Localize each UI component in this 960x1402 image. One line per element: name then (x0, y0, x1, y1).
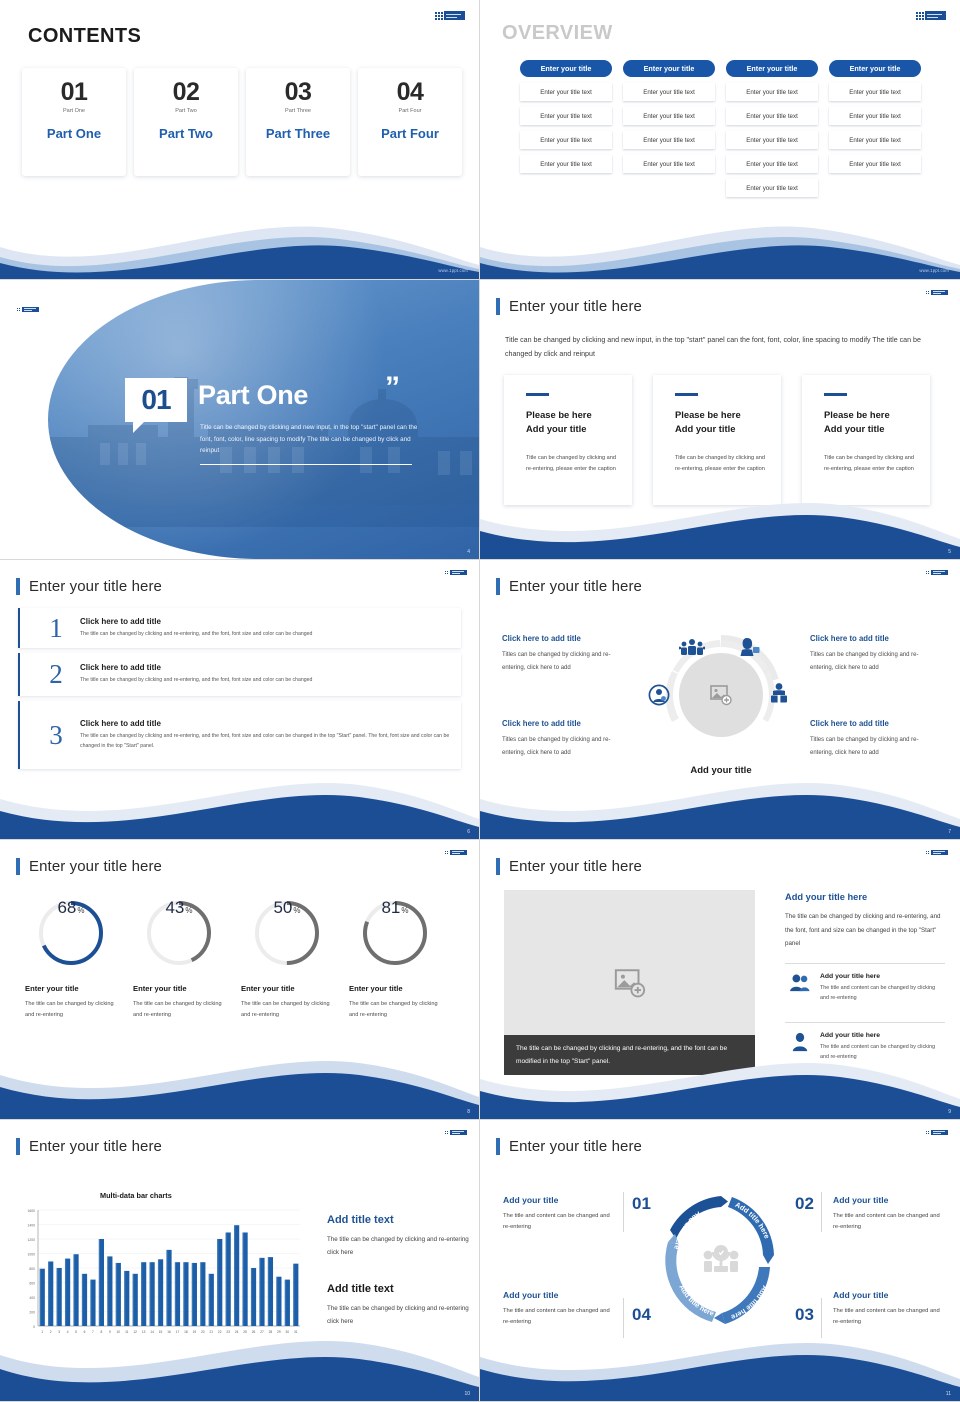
page-title: Enter your title here (509, 578, 642, 595)
card-subtitle: Part One (63, 108, 85, 114)
donut-diagram (646, 626, 796, 758)
cycle-number-03: 03 (795, 1305, 814, 1325)
svg-text:19: 19 (193, 1330, 197, 1334)
block-body: The title can be changed by clicking and… (327, 1233, 472, 1259)
svg-text:1000: 1000 (27, 1252, 35, 1256)
overview-cell[interactable]: Enter your title text (623, 107, 715, 125)
card-accent-bar (526, 393, 549, 396)
card-accent-bar (675, 393, 698, 396)
slide-header: Enter your title here (496, 1138, 642, 1155)
ring-number: 43 (165, 898, 184, 918)
section-description: Title can be changed by clicking and new… (200, 422, 428, 457)
svg-text:2: 2 (50, 1330, 52, 1334)
row-number: 3 (32, 722, 80, 749)
svg-text:1400: 1400 (27, 1223, 35, 1227)
item-body: The title and content can be changed by … (820, 1042, 945, 1062)
panel-heading: Add your title here (785, 892, 945, 902)
title-tick-icon (496, 858, 500, 875)
ring-number: 81 (381, 898, 400, 918)
ring-caption: Enter your title (25, 984, 117, 993)
card-number: 01 (61, 80, 88, 105)
slide-header: Enter your title here (16, 1138, 162, 1155)
wave-decoration (480, 497, 960, 559)
wave-decoration (0, 777, 479, 839)
row-heading: Click here to add title (80, 719, 450, 728)
ring-number: 68 (57, 898, 76, 918)
page-number: 8 (467, 1109, 470, 1115)
card-part-label: Part Two (159, 126, 213, 141)
card-title-line2: Add your title (675, 423, 735, 434)
ring-body: The title can be changed by clicking and… (349, 999, 441, 1020)
single-user-icon (789, 1032, 811, 1062)
ring-body: The title can be changed by clicking and… (241, 999, 333, 1020)
overview-cell[interactable]: Enter your title text (726, 131, 818, 149)
column-title-pill[interactable]: Enter your title (829, 60, 921, 77)
cycle-heading: Add your title (503, 1195, 615, 1205)
svg-text:6: 6 (84, 1330, 86, 1334)
page-number: 10 (464, 1391, 470, 1397)
page-title: Enter your title here (509, 858, 642, 875)
svg-text:1: 1 (41, 1330, 43, 1334)
logo-grid-icon (925, 1130, 930, 1135)
overview-column: Enter your title Enter your title text E… (520, 60, 612, 197)
slide-cycle-four: Enter your title here Add your title The… (480, 1120, 960, 1402)
svg-text:0: 0 (33, 1325, 35, 1329)
ring-item: 50% Enter your title The title can be ch… (241, 898, 333, 1020)
slide-header: Enter your title here (496, 298, 642, 315)
card-part-label: Part Three (266, 126, 330, 141)
logo-bar-icon (444, 11, 465, 20)
card-subtitle: Part Two (175, 108, 197, 114)
card-number: 03 (285, 80, 312, 105)
cycle-number-04: 04 (632, 1305, 651, 1325)
svg-text:800: 800 (29, 1267, 35, 1271)
row-heading: Click here to add title (80, 617, 450, 626)
svg-text:9: 9 (109, 1330, 111, 1334)
ring-item: 68% Enter your title The title can be ch… (25, 898, 117, 1020)
text-block: Add title text The title can be changed … (327, 1214, 472, 1259)
overview-cell[interactable]: Enter your title text (623, 155, 715, 173)
svg-text:11: 11 (125, 1330, 129, 1334)
overview-cell[interactable]: Enter your title text (623, 131, 715, 149)
page-number: 11 (946, 1391, 951, 1397)
overview-cell[interactable]: Enter your title text (726, 83, 818, 101)
logo-grid-icon (444, 850, 449, 855)
svg-text:16: 16 (167, 1330, 171, 1334)
slide-bar-chart: Enter your title here Multi-data bar cha… (0, 1120, 480, 1402)
overview-column: Enter your title Enter your title text E… (726, 60, 818, 197)
overview-cell[interactable]: Enter your title text (520, 131, 612, 149)
overview-cell[interactable]: Enter your title text (726, 179, 818, 197)
contents-card[interactable]: 02 Part Two Part Two (134, 68, 238, 176)
card-title: Please be hereAdd your title (824, 408, 930, 437)
svg-text:8: 8 (100, 1330, 102, 1334)
title-tick-icon (16, 858, 20, 875)
svg-text:12: 12 (133, 1330, 137, 1334)
quadrant-heading: Click here to add title (502, 634, 629, 643)
brand-logo (444, 850, 467, 855)
page-title: CONTENTS (28, 25, 141, 48)
group-people-icon (679, 638, 705, 661)
title-tick-icon (496, 578, 500, 595)
title-tick-icon (496, 1138, 500, 1155)
title-tick-icon (16, 578, 20, 595)
card-accent-bar (824, 393, 847, 396)
svg-text:600: 600 (29, 1281, 35, 1285)
row-body: The title can be changed by clicking and… (80, 732, 450, 750)
card-part-label: Part One (47, 126, 101, 141)
progress-ring: 50% (252, 898, 322, 968)
svg-text:28: 28 (269, 1330, 273, 1334)
quote-mark-icon: ” (385, 376, 400, 400)
quadrant-text-bottom-right: Click here to add title Titles can be ch… (810, 719, 937, 759)
center-caption: Add your title (646, 765, 796, 776)
logo-grid-icon (444, 570, 449, 575)
overview-column: Enter your title Enter your title text E… (623, 60, 715, 197)
image-placeholder-icon (709, 683, 733, 707)
right-text-panel: Add title text The title can be changed … (327, 1214, 472, 1328)
right-panel: Add your title here The title can be cha… (785, 892, 945, 1069)
row-text: Click here to add title The title can be… (80, 663, 450, 685)
quadrant-text-bottom-left: Click here to add title Titles can be ch… (502, 719, 629, 759)
card-title-line1: Please be here (675, 409, 741, 420)
card-number: 02 (173, 80, 200, 105)
block-heading: Add title text (327, 1283, 472, 1295)
overview-cell[interactable]: Enter your title text (520, 155, 612, 173)
ring-list: 68% Enter your title The title can be ch… (25, 898, 441, 1020)
slide-deck: CONTENTS 01 Part One Part One 02 Part Tw… (0, 0, 960, 1400)
ring-suffix: % (293, 906, 300, 915)
overview-cell[interactable]: Enter your title text (520, 83, 612, 101)
brand-logo (444, 570, 467, 575)
panel-body: The title can be changed by clicking and… (785, 910, 945, 951)
ring-suffix: % (401, 906, 408, 915)
svg-text:26: 26 (252, 1330, 256, 1334)
center-image-placeholder[interactable] (679, 653, 763, 737)
svg-text:24: 24 (235, 1330, 239, 1334)
cycle-text-04: Add your title The title and content can… (503, 1290, 615, 1329)
block-body: The title can be changed by clicking and… (327, 1302, 472, 1328)
card-list: Please be hereAdd your title Title can b… (504, 375, 930, 505)
slide-contents: CONTENTS 01 Part One Part One 02 Part Tw… (0, 0, 480, 280)
card-title-line1: Please be here (824, 409, 890, 420)
overview-cell[interactable]: Enter your title text (829, 107, 921, 125)
page-number: 5 (948, 549, 951, 555)
page-number: 7 (948, 829, 951, 835)
page-title: Enter your title here (29, 1138, 162, 1155)
chart-title: Multi-data bar charts (100, 1191, 172, 1200)
svg-text:10: 10 (117, 1330, 121, 1334)
svg-text:23: 23 (226, 1330, 230, 1334)
cycle-text-03: Add your title The title and content can… (833, 1290, 945, 1329)
slide-overview: OVERVIEW Enter your title Enter your tit… (480, 0, 960, 280)
contents-card[interactable]: 03 Part Three Part Three (246, 68, 350, 176)
logo-bar-icon (450, 850, 467, 855)
divider (623, 1192, 624, 1232)
cycle-heading: Add your title (833, 1290, 945, 1300)
brand-logo (925, 1130, 948, 1135)
brand-logo (925, 290, 948, 295)
svg-text:7: 7 (92, 1330, 94, 1334)
quadrant-body: Titles can be changed by clicking and re… (502, 649, 629, 674)
ring-number: 50 (273, 898, 292, 918)
svg-text:31: 31 (294, 1330, 298, 1334)
info-card[interactable]: Please be hereAdd your title Title can b… (653, 375, 781, 505)
logo-grid-icon (16, 307, 21, 312)
card-body: Title can be changed by clicking and re-… (824, 453, 916, 475)
divider (821, 1298, 822, 1338)
cycle-number-01: 01 (632, 1194, 651, 1214)
logo-grid-icon (925, 570, 930, 575)
list-item[interactable]: Add your title here The title and conten… (785, 964, 945, 1010)
logo-grid-icon (444, 1130, 449, 1135)
row-number: 2 (32, 661, 80, 688)
cycle-heading: Add your title (503, 1290, 615, 1300)
svg-text:15: 15 (159, 1330, 163, 1334)
person-badge-icon (738, 637, 760, 662)
quadrant-heading: Click here to add title (810, 719, 937, 728)
logo-grid-icon (915, 11, 924, 20)
overview-cell[interactable]: Enter your title text (829, 155, 921, 173)
item-text: Add your title here The title and conten… (820, 1032, 945, 1062)
svg-text:22: 22 (218, 1330, 222, 1334)
progress-ring: 43% (144, 898, 214, 968)
column-title-pill[interactable]: Enter your title (623, 60, 715, 77)
row-body: The title can be changed by clicking and… (80, 676, 450, 685)
logo-grid-icon (925, 290, 930, 295)
cycle-body: The title and content can be changed and… (503, 1211, 615, 1234)
ring-value: 43% (144, 898, 214, 968)
logo-bar-icon (925, 11, 946, 20)
slide-image-list: Enter your title here The title can be c… (480, 840, 960, 1120)
section-title: Part One (198, 380, 308, 411)
svg-text:400: 400 (29, 1296, 35, 1300)
brand-logo (925, 570, 948, 575)
card-part-label: Part Four (381, 126, 439, 141)
logo-bar-icon (931, 290, 948, 295)
svg-text:4: 4 (67, 1330, 69, 1334)
page-title: Enter your title here (29, 858, 162, 875)
ring-caption: Enter your title (133, 984, 225, 993)
quadrant-body: Titles can be changed by clicking and re… (810, 734, 937, 759)
ring-value: 81% (360, 898, 430, 968)
contents-card-list: 01 Part One Part One 02 Part Two Part Tw… (22, 68, 462, 176)
wave-decoration (480, 1339, 960, 1401)
cycle-text-02: Add your title The title and content can… (833, 1195, 945, 1234)
person-box-icon (768, 682, 790, 709)
ring-caption: Enter your title (241, 984, 333, 993)
row-heading: Click here to add title (80, 663, 450, 672)
image-caption: The title can be changed by clicking and… (504, 1035, 755, 1075)
page-title: OVERVIEW (502, 22, 613, 45)
contents-card[interactable]: 04 Part Four Part Four (358, 68, 462, 176)
svg-text:17: 17 (176, 1330, 180, 1334)
info-card[interactable]: Please be hereAdd your title Title can b… (504, 375, 632, 505)
page-title: Enter your title here (509, 298, 642, 315)
cover-photo (48, 280, 480, 559)
info-card[interactable]: Please be hereAdd your title Title can b… (802, 375, 930, 505)
ring-value: 50% (252, 898, 322, 968)
contents-card[interactable]: 01 Part One Part One (22, 68, 126, 176)
overview-cell[interactable]: Enter your title text (623, 83, 715, 101)
bar-chart-svg: 0200400600800100012001400160012345678910… (14, 1204, 304, 1344)
title-tick-icon (496, 298, 500, 315)
text-block: Add title text The title can be changed … (327, 1283, 472, 1328)
svg-text:29: 29 (277, 1330, 281, 1334)
overview-cell[interactable]: Enter your title text (829, 131, 921, 149)
card-title: Please be hereAdd your title (675, 408, 781, 437)
quadrant-body: Titles can be changed by clicking and re… (502, 734, 629, 759)
list-item[interactable]: Add your title here The title and conten… (785, 1023, 945, 1069)
block-heading: Add title text (327, 1214, 472, 1226)
svg-text:30: 30 (286, 1330, 290, 1334)
item-body: The title and content can be changed by … (820, 983, 945, 1003)
logo-bar-icon (450, 1130, 467, 1135)
slide-donut-four: Enter your title here Click here to add … (480, 560, 960, 840)
slide-header: Enter your title here (496, 858, 642, 875)
cycle-text-01: Add your title The title and content can… (503, 1195, 615, 1234)
overview-cell[interactable]: Enter your title text (520, 107, 612, 125)
item-heading: Add your title here (820, 973, 945, 980)
row-number: 1 (32, 615, 80, 642)
overview-cell[interactable]: Enter your title text (726, 155, 818, 173)
ring-item: 81% Enter your title The title can be ch… (349, 898, 441, 1020)
item-text: Add your title here The title and conten… (820, 973, 945, 1003)
logo-bar-icon (931, 1130, 948, 1135)
card-subtitle: Part Four (399, 108, 422, 114)
wave-decoration (480, 777, 960, 839)
footer-url: www.1ppt.com (438, 268, 468, 273)
slide-header: Enter your title here (16, 858, 162, 875)
item-heading: Add your title here (820, 1032, 945, 1039)
card-title-line1: Please be here (526, 409, 592, 420)
cycle-number-02: 02 (795, 1194, 814, 1214)
page-title: Enter your title here (29, 578, 162, 595)
svg-text:200: 200 (29, 1310, 35, 1314)
ring-body: The title can be changed by clicking and… (133, 999, 225, 1020)
page-title: Enter your title here (509, 1138, 642, 1155)
cycle-diagram: Add title here Add title here Add title … (662, 1182, 780, 1338)
two-users-icon (789, 973, 811, 1003)
footer-url: www.1ppt.com (919, 268, 949, 273)
quadrant-text-top-right: Click here to add title Titles can be ch… (810, 634, 937, 674)
card-title-line2: Add your title (526, 423, 586, 434)
logo-grid-icon (434, 11, 443, 20)
svg-text:18: 18 (184, 1330, 188, 1334)
card-title: Please be hereAdd your title (526, 408, 632, 437)
svg-text:1600: 1600 (27, 1209, 35, 1213)
logo-bar-icon (22, 307, 39, 312)
divider (623, 1298, 624, 1338)
list-item[interactable]: 2 Click here to add title The title can … (18, 653, 461, 696)
brand-logo (434, 11, 465, 20)
divider (821, 1192, 822, 1232)
card-subtitle: Part Three (285, 108, 311, 114)
wave-decoration (480, 217, 960, 279)
ring-body: The title can be changed by clicking and… (25, 999, 117, 1020)
brand-logo (915, 11, 946, 20)
svg-text:1200: 1200 (27, 1238, 35, 1242)
brand-logo (16, 307, 39, 312)
row-text: Click here to add title The title can be… (80, 719, 450, 750)
page-number: 9 (948, 1109, 951, 1115)
numbered-row-list: 1 Click here to add title The title can … (18, 608, 461, 769)
overview-columns: Enter your title Enter your title text E… (520, 60, 921, 197)
page-number: 4 (467, 549, 470, 555)
quadrant-heading: Click here to add title (502, 719, 629, 728)
overview-column: Enter your title Enter your title text E… (829, 60, 921, 197)
section-number: 01 (125, 378, 187, 422)
user-circle-icon (648, 684, 670, 711)
column-title-pill[interactable]: Enter your title (726, 60, 818, 77)
svg-text:13: 13 (142, 1330, 146, 1334)
ring-suffix: % (185, 906, 192, 915)
bar-chart: 0200400600800100012001400160012345678910… (14, 1204, 304, 1344)
wave-decoration (0, 1057, 479, 1119)
page-number: 6 (467, 829, 470, 835)
svg-text:27: 27 (260, 1330, 264, 1334)
progress-ring: 81% (360, 898, 430, 968)
slide-three-cards: Enter your title here Title can be chang… (480, 280, 960, 560)
card-body: Title can be changed by clicking and re-… (526, 453, 618, 475)
section-number-badge: 01 (125, 378, 187, 422)
image-placeholder-icon (613, 966, 647, 1000)
lead-paragraph: Title can be changed by clicking and new… (505, 333, 925, 361)
row-text: Click here to add title The title can be… (80, 617, 450, 639)
cycle-heading: Add your title (833, 1195, 945, 1205)
quadrant-text-top-left: Click here to add title Titles can be ch… (502, 634, 629, 674)
ring-item: 43% Enter your title The title can be ch… (133, 898, 225, 1020)
overview-cell[interactable]: Enter your title text (726, 107, 818, 125)
cycle-body: The title and content can be changed and… (833, 1306, 945, 1329)
column-title-pill[interactable]: Enter your title (520, 60, 612, 77)
cycle-body: The title and content can be changed and… (503, 1306, 615, 1329)
svg-text:3: 3 (58, 1330, 60, 1334)
card-number: 04 (397, 80, 424, 105)
slide-section-cover: 01 Part One ” Title can be changed by cl… (0, 280, 480, 560)
brand-logo (925, 850, 948, 855)
svg-text:25: 25 (243, 1330, 247, 1334)
ring-suffix: % (77, 906, 84, 915)
ring-caption: Enter your title (349, 984, 441, 993)
card-title-line2: Add your title (824, 423, 884, 434)
logo-grid-icon (925, 850, 930, 855)
ring-value: 68% (36, 898, 106, 968)
logo-bar-icon (450, 570, 467, 575)
list-item[interactable]: 3 Click here to add title The title can … (18, 701, 461, 769)
title-tick-icon (16, 1138, 20, 1155)
svg-text:5: 5 (75, 1330, 77, 1334)
progress-ring: 68% (36, 898, 106, 968)
wave-decoration (0, 1339, 479, 1401)
card-body: Title can be changed by clicking and re-… (675, 453, 767, 475)
slide-header: Enter your title here (496, 578, 642, 595)
brand-logo (444, 1130, 467, 1135)
svg-text:14: 14 (150, 1330, 154, 1334)
list-item[interactable]: 1 Click here to add title The title can … (18, 608, 461, 648)
logo-bar-icon (931, 570, 948, 575)
quadrant-heading: Click here to add title (810, 634, 937, 643)
slide-header: Enter your title here (16, 578, 162, 595)
slide-percent-rings: Enter your title here 68% Enter your tit… (0, 840, 480, 1120)
overview-cell[interactable]: Enter your title text (829, 83, 921, 101)
quadrant-body: Titles can be changed by clicking and re… (810, 649, 937, 674)
slide-numbered-rows: Enter your title here 1 Click here to ad… (0, 560, 480, 840)
svg-text:21: 21 (209, 1330, 213, 1334)
wave-decoration (0, 217, 479, 279)
logo-bar-icon (931, 850, 948, 855)
svg-text:20: 20 (201, 1330, 205, 1334)
